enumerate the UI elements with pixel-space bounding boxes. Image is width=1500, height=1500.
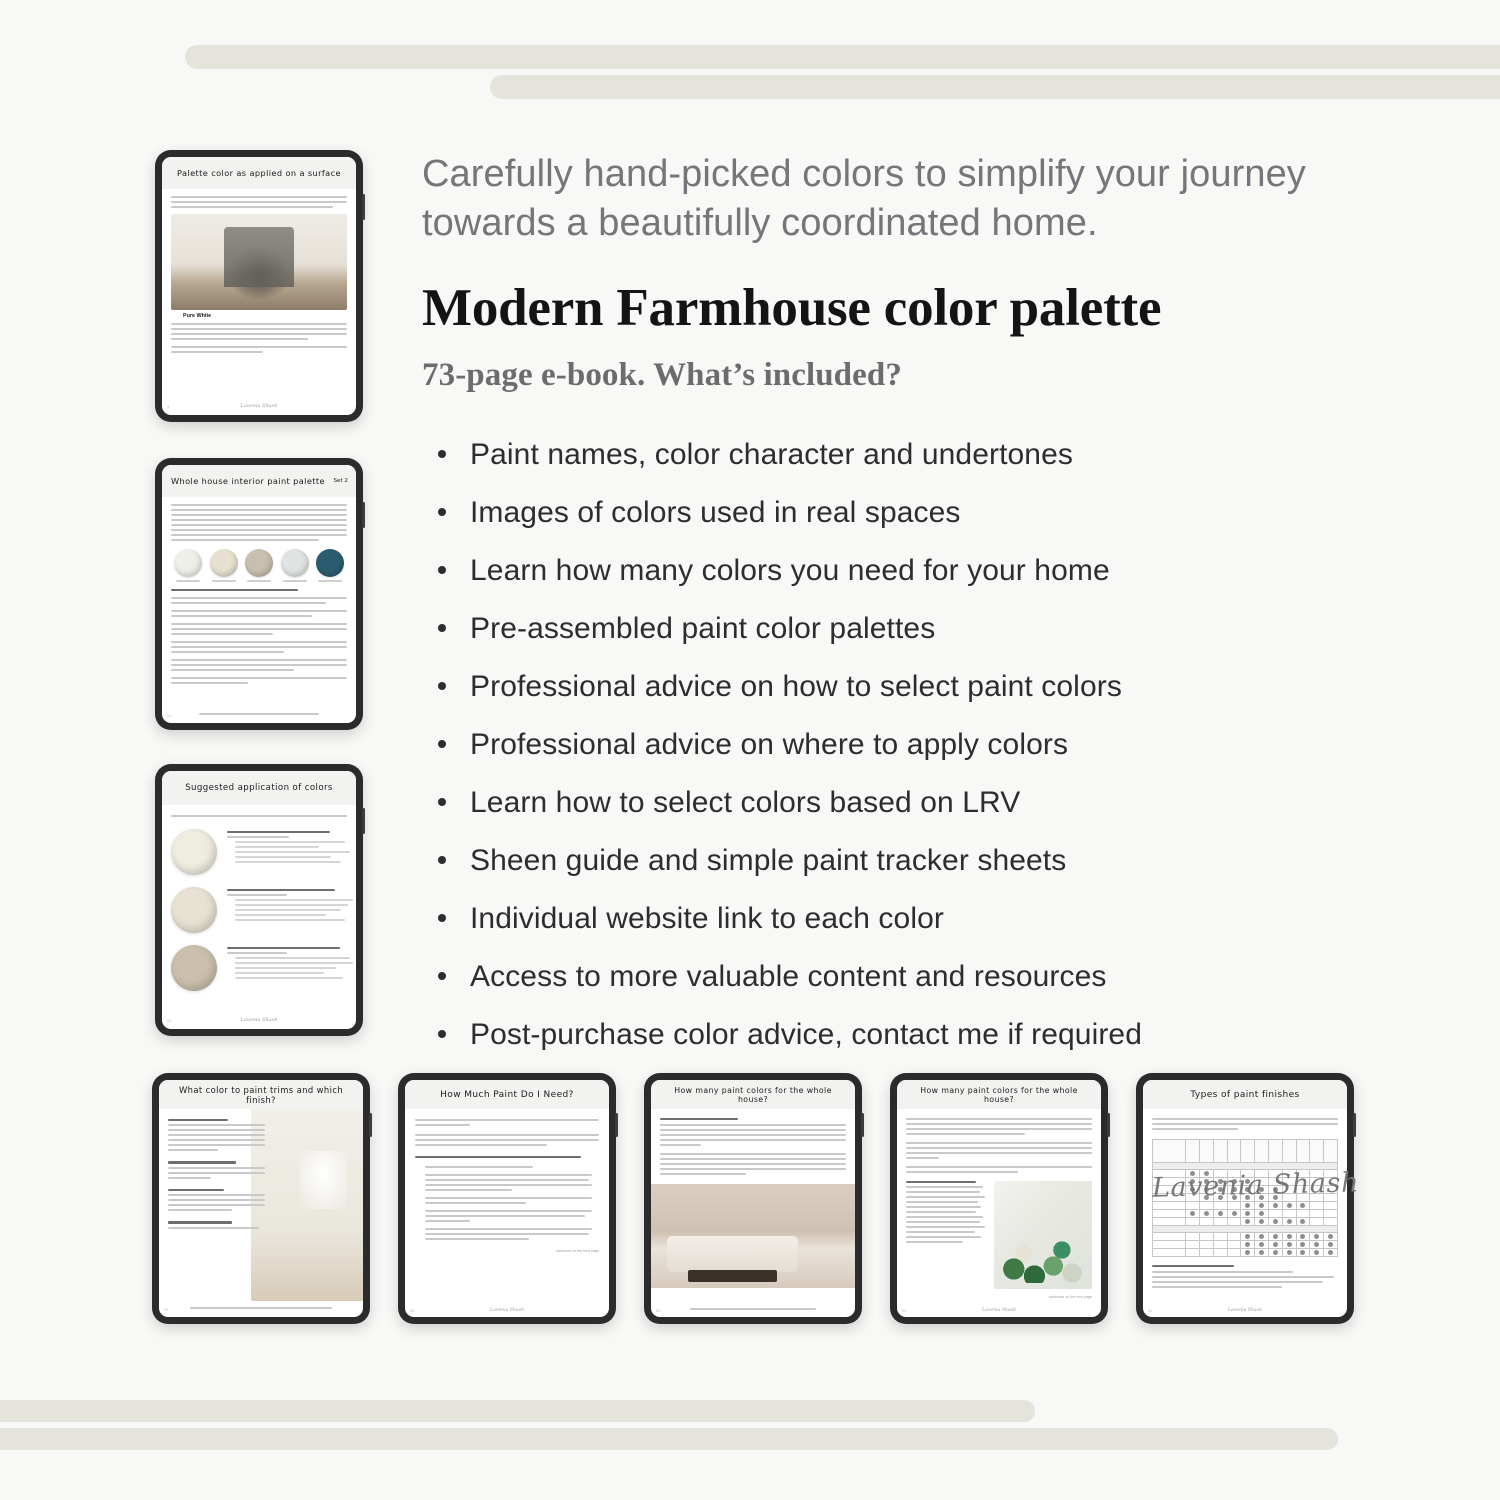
tablet-screen: Whole house interior paint palette Set 2 [162, 465, 356, 723]
page-number: 61 [1148, 1308, 1152, 1313]
decor-bar-bottom-1 [0, 1400, 1035, 1422]
page-number: 9 [167, 404, 169, 409]
list-item [425, 1197, 599, 1204]
page-title: How many paint colors for the whole hous… [651, 1086, 855, 1104]
list-item [425, 1228, 599, 1240]
matrix-row [1153, 1233, 1338, 1241]
swatch-circle [171, 887, 217, 933]
page-footer: 21 [162, 707, 356, 723]
marketing-copy: Carefully hand-picked colors to simplify… [422, 150, 1362, 1076]
room-photo [171, 214, 347, 310]
swatch-misty [280, 549, 310, 582]
swatch-caption: Pure White [183, 313, 347, 319]
swatch-accessible-beige [244, 549, 274, 582]
list-item: Paint names, color character and underto… [422, 438, 1362, 471]
page-footer: 45 Lavenia Shash [405, 1303, 609, 1317]
page-footer: 61 Lavenia Shash [1143, 1303, 1347, 1317]
tablet-screen: How many paint colors for the whole hous… [897, 1080, 1101, 1317]
page-title: How many paint colors for the whole hous… [897, 1086, 1101, 1104]
page-header: How many paint colors for the whole hous… [651, 1080, 855, 1109]
page-body: continued on the next page [897, 1109, 1101, 1303]
tablet-side-button [1107, 1113, 1110, 1137]
continued-note: continued on the next page [415, 1249, 599, 1253]
matrix-row [1153, 1218, 1338, 1226]
swatch-row [173, 549, 345, 582]
list-item: Individual website link to each color [422, 902, 1362, 935]
list-item [425, 1166, 599, 1168]
page-header: Suggested application of colors [162, 771, 356, 805]
list-item: Professional advice on how to select pai… [422, 670, 1362, 703]
swatch-block-dover-white [171, 887, 347, 933]
tablet-how-much-paint: How Much Paint Do I Need? [398, 1073, 616, 1324]
page-header: What color to paint trims and which fini… [159, 1080, 363, 1109]
page-header: Types of paint finishes [1143, 1080, 1347, 1109]
page-set-tag: Set 2 [333, 478, 348, 484]
footer-signature: Lavenia Shash [982, 1308, 1016, 1313]
tagline: Carefully hand-picked colors to simplify… [422, 150, 1362, 247]
tablet-screen: Suggested application of colors [162, 771, 356, 1029]
subheading: 73-page e-book. What’s included? [422, 357, 1362, 394]
tablet-screen: What color to paint trims and which fini… [159, 1080, 363, 1317]
body-paragraph [415, 1134, 599, 1146]
tablet-side-button [362, 808, 365, 834]
body-paragraph [168, 1119, 265, 1151]
page-title: Suggested application of colors [177, 783, 341, 793]
paint-cans-photo [994, 1181, 1092, 1289]
continued-note: continued on the next page [906, 1295, 1092, 1299]
swatch-circle [171, 945, 217, 991]
tablet-screen: How Much Paint Do I Need? [405, 1080, 609, 1317]
list-item: Professional advice on where to apply co… [422, 728, 1362, 761]
body-paragraph [906, 1118, 1092, 1135]
page-title: How Much Paint Do I Need? [432, 1090, 582, 1100]
body-paragraph [171, 323, 347, 340]
list-item [425, 1174, 599, 1191]
body-paragraph [168, 1221, 265, 1228]
page-number: 53 [902, 1308, 906, 1313]
room-photo [251, 1109, 363, 1301]
body-paragraph [660, 1124, 846, 1146]
footer-signature: Lavenia Shash [1228, 1308, 1262, 1313]
body-paragraph [171, 659, 347, 671]
tablet-screen: How many paint colors for the whole hous… [651, 1080, 855, 1317]
page-body: Pure White [162, 189, 356, 397]
page-footer: 9 Lavenia Shash [162, 397, 356, 415]
page-body [1143, 1109, 1347, 1303]
list-item: Pre-assembled paint color palettes [422, 612, 1362, 645]
page-body [162, 805, 356, 1011]
decor-bar-top-2 [490, 75, 1500, 99]
list-item: Sheen guide and simple paint tracker she… [422, 844, 1362, 877]
swatch-description [227, 887, 347, 924]
body-paragraph [171, 641, 347, 653]
footer-signature: Lavenia Shash [490, 1308, 524, 1313]
list-item: Post-purchase color advice, contact me i… [422, 1018, 1362, 1051]
feature-list: Paint names, color character and underto… [422, 438, 1362, 1051]
swatch-dover-white [209, 549, 239, 582]
body-paragraph [171, 597, 347, 604]
tablet-whole-house-palette: Whole house interior paint palette Set 2 [155, 458, 363, 730]
page-number: 52 [656, 1308, 660, 1313]
footer-links [690, 1308, 816, 1310]
body-paragraph [906, 1142, 1092, 1159]
page-number: 45 [410, 1308, 414, 1313]
page-title: Types of paint finishes [1182, 1090, 1307, 1100]
page-body [651, 1109, 855, 1303]
body-paragraph [168, 1161, 265, 1178]
page-number: 24 [167, 1018, 171, 1023]
tablet-side-button [362, 194, 365, 220]
page-footer: 53 Lavenia Shash [897, 1303, 1101, 1317]
page-title: Whole house interior paint palette [163, 476, 333, 486]
tablet-trims-finish: What color to paint trims and which fini… [152, 1073, 370, 1324]
living-room-photo [651, 1184, 855, 1288]
swatch-pure-white [173, 549, 203, 582]
tablet-screen: Palette color as applied on a surface Pu… [162, 157, 356, 415]
poster-canvas: Palette color as applied on a surface Pu… [0, 0, 1500, 1500]
page-body [162, 497, 356, 707]
page-footer: 52 [651, 1303, 855, 1317]
footer-links [199, 713, 319, 715]
footer-links [190, 1307, 333, 1309]
matrix-header-row [1153, 1140, 1338, 1163]
page-title: Palette color as applied on a surface [169, 168, 349, 178]
tablet-how-many-colors-2: How many paint colors for the whole hous… [890, 1073, 1108, 1324]
tablet-suggested-application: Suggested application of colors [155, 764, 363, 1036]
page-header: Whole house interior paint palette Set 2 [162, 465, 356, 497]
page-title: Modern Farmhouse color palette [422, 281, 1362, 337]
body-paragraph [171, 504, 347, 541]
footer-signature: Lavenia Shash [241, 403, 278, 409]
matrix-row [1153, 1210, 1338, 1218]
page-body [159, 1109, 363, 1301]
list-item [425, 1210, 599, 1222]
footer-signature: Lavenia Shash [241, 1017, 278, 1023]
decor-bar-top-1 [185, 45, 1500, 69]
page-header: Palette color as applied on a surface [162, 157, 356, 189]
page-header: How Much Paint Do I Need? [405, 1080, 609, 1109]
matrix-section-row [1153, 1226, 1338, 1233]
tablet-side-button [362, 502, 365, 528]
tablet-side-button [369, 1113, 372, 1137]
body-paragraph [171, 610, 347, 617]
author-signature: Lavenia Shash [1152, 1167, 1360, 1203]
body-paragraph [171, 677, 347, 684]
body-paragraph [171, 346, 347, 353]
tablet-side-button [861, 1113, 864, 1137]
page-body: continued on the next page [405, 1109, 609, 1303]
decor-bar-bottom-2 [0, 1428, 1338, 1450]
list-item: Learn how to select colors based on LRV [422, 786, 1362, 819]
swatch-rainstorm [315, 549, 345, 582]
body-paragraph [171, 623, 347, 635]
swatch-block-pure-white [171, 829, 347, 875]
swatch-circle [171, 829, 217, 875]
body-paragraph [660, 1153, 846, 1175]
body-paragraph [171, 196, 347, 208]
swatch-block-accessible-beige [171, 945, 347, 991]
body-paragraph [906, 1166, 1092, 1173]
swatch-description [227, 945, 347, 982]
page-number: 21 [167, 713, 171, 718]
matrix-row [1153, 1249, 1338, 1257]
tablet-side-button [1353, 1113, 1356, 1137]
tablet-how-many-colors-1: How many paint colors for the whole hous… [644, 1073, 862, 1324]
body-paragraph [415, 1119, 599, 1126]
list-item: Learn how many colors you need for your … [422, 554, 1362, 587]
matrix-row [1153, 1241, 1338, 1249]
page-header: How many paint colors for the whole hous… [897, 1080, 1101, 1109]
body-paragraph [168, 1189, 265, 1211]
page-footer: 31 [159, 1301, 363, 1317]
page-title: What color to paint trims and which fini… [159, 1085, 363, 1105]
list-item: Access to more valuable content and reso… [422, 960, 1362, 993]
list-item: Images of colors used in real spaces [422, 496, 1362, 529]
tablet-palette-applied: Palette color as applied on a surface Pu… [155, 150, 363, 422]
swatch-description [227, 829, 347, 866]
tablet-side-button [615, 1113, 618, 1137]
page-number: 31 [164, 1307, 168, 1312]
body-paragraph [1152, 1118, 1338, 1130]
page-footer: 24 Lavenia Shash [162, 1011, 356, 1029]
